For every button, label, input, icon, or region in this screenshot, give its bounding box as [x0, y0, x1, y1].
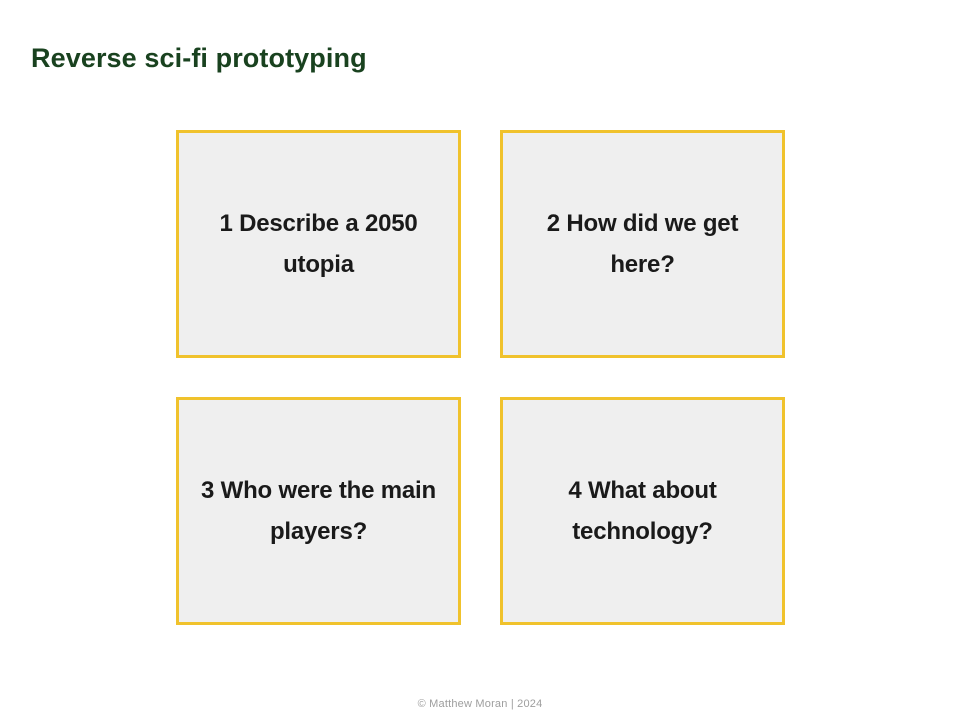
card-how-did-we-get-here[interactable]: 2 How did we get here? [500, 130, 785, 358]
card-label: 3 Who were the main players? [179, 470, 458, 552]
card-label: 4 What about technology? [503, 470, 782, 552]
card-describe-utopia[interactable]: 1 Describe a 2050 utopia [176, 130, 461, 358]
card-technology[interactable]: 4 What about technology? [500, 397, 785, 625]
slide-canvas: Reverse sci-fi prototyping 1 Describe a … [0, 0, 960, 720]
card-label: 1 Describe a 2050 utopia [179, 203, 458, 285]
card-main-players[interactable]: 3 Who were the main players? [176, 397, 461, 625]
footer-credit: © Matthew Moran | 2024 [0, 698, 960, 710]
card-label: 2 How did we get here? [503, 203, 782, 285]
page-title: Reverse sci-fi prototyping [31, 41, 367, 75]
card-grid: 1 Describe a 2050 utopia 2 How did we ge… [176, 130, 785, 625]
